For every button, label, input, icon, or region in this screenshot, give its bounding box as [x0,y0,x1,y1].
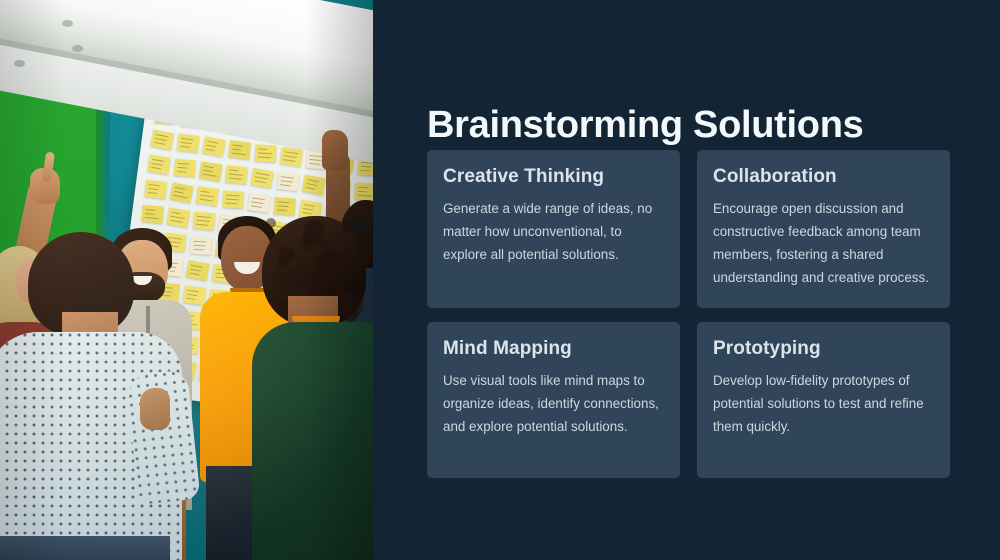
card-creative-thinking[interactable]: Creative Thinking Generate a wide range … [427,150,680,308]
hair-curl [355,251,370,266]
ceiling-light-icon [72,45,83,52]
hair-curl [342,222,352,232]
card-mind-mapping[interactable]: Mind Mapping Use visual tools like mind … [427,322,680,478]
sticky-note [277,172,300,191]
sticky-note [174,159,196,178]
sticky-note [354,183,373,201]
sticky-note [190,237,212,255]
card-title: Prototyping [713,338,934,360]
card-title: Creative Thinking [443,166,664,188]
content-panel: Brainstorming Solutions Creative Thinkin… [373,0,1000,560]
hair-curl [330,278,340,288]
sticky-note [167,207,191,227]
sticky-note [193,211,216,230]
brainstorming-photo [0,0,373,560]
hand-placing-note [322,130,348,170]
hair-curl [302,242,312,252]
sticky-note [247,193,270,213]
card-collaboration[interactable]: Collaboration Encourage open discussion … [697,150,950,308]
card-prototyping[interactable]: Prototyping Develop low-fidelity prototy… [697,322,950,478]
sticky-note [225,165,248,184]
card-body: Develop low-fidelity prototypes of poten… [713,369,934,438]
card-body: Generate a wide range of ideas, no matte… [443,197,664,266]
sticky-note [177,134,200,153]
card-title: Collaboration [713,166,934,188]
sticky-note [170,182,194,203]
sticky-note [202,136,226,157]
feature-cards-grid: Creative Thinking Generate a wide range … [427,150,950,478]
sticky-note [222,190,244,208]
sticky-note [196,186,219,206]
foreground-person-jeans [0,536,170,560]
sticky-note [183,285,206,305]
sticky-note [141,205,163,224]
sticky-note [254,144,276,162]
sticky-note [274,197,296,216]
page-title: Brainstorming Solutions [427,105,967,147]
sticky-note [280,147,303,167]
sticky-note [250,168,274,189]
hair-curl [318,238,328,248]
sticky-note [302,175,326,196]
card-body: Encourage open discussion and constructi… [713,197,934,289]
sticky-note [147,155,170,175]
sticky-note [228,140,251,160]
sticky-note [199,161,223,181]
hair-curl [315,271,330,286]
foreground-person-hand [140,388,170,430]
ceiling-light-icon [62,20,73,27]
sticky-note [186,260,210,281]
hair-curl [278,258,288,268]
sticky-note [151,130,175,151]
dark-green-sweater [252,322,373,560]
card-title: Mind Mapping [443,338,664,360]
card-body: Use visual tools like mind maps to organ… [443,369,664,438]
sticky-note [144,180,167,199]
slide-canvas: Brainstorming Solutions Creative Thinkin… [0,0,1000,560]
ceiling-light-icon [14,60,25,67]
hair-curl [266,218,276,228]
